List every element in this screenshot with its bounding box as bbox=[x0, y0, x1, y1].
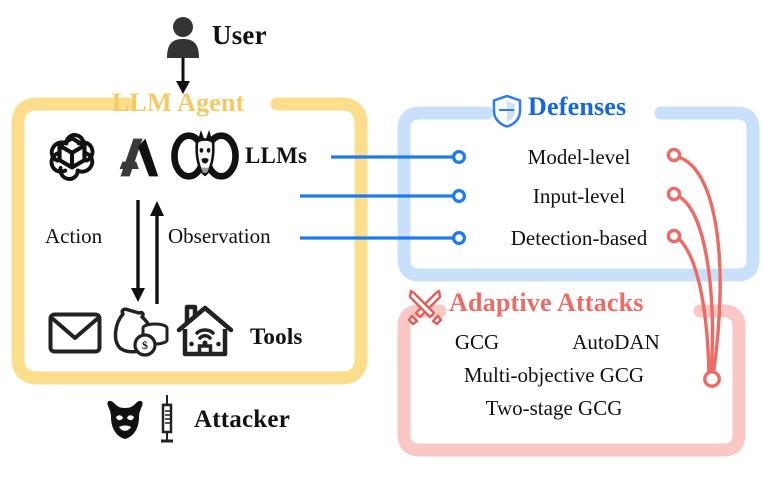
attack-node-input-level bbox=[668, 188, 679, 199]
attack-curve-to-detection-based bbox=[678, 238, 709, 376]
attack-connectors-layer bbox=[0, 0, 762, 478]
attack-node-model-level bbox=[668, 149, 679, 160]
attack-node-detection-based bbox=[668, 230, 679, 241]
attack-hub-node bbox=[705, 372, 719, 386]
diagram-canvas: User LLM Agent bbox=[0, 0, 762, 478]
